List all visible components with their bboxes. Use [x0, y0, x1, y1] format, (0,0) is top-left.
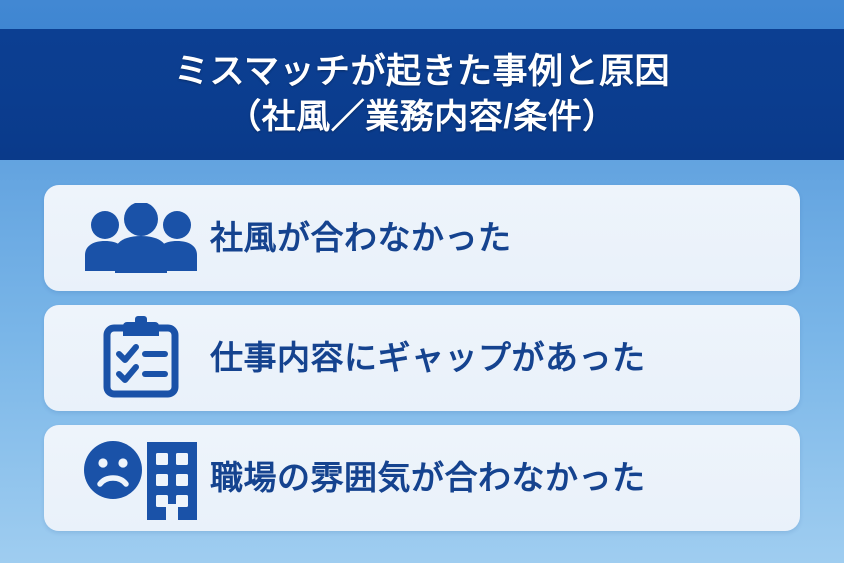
list-item-label: 職場の雰囲気が合わなかった [210, 459, 646, 497]
page-title-line-2: （社風／業務内容/条件） [227, 95, 616, 140]
card-list: 社風が合わなかった [44, 185, 800, 531]
list-item[interactable]: 社風が合わなかった [44, 185, 800, 291]
header-band: ミスマッチが起きた事例と原因 （社風／業務内容/条件） [0, 29, 844, 160]
sad-face-building-icon [78, 436, 204, 520]
top-accent-strip [0, 0, 844, 29]
poster-root: ミスマッチが起きた事例と原因 （社風／業務内容/条件） [0, 0, 844, 563]
list-item[interactable]: 仕事内容にギャップがあった [44, 305, 800, 411]
clipboard-checklist-icon [78, 316, 204, 400]
office-building-part [147, 442, 197, 520]
list-item-label: 仕事内容にギャップがあった [210, 339, 646, 377]
page-title-line-1: ミスマッチが起きた事例と原因 [174, 49, 670, 95]
people-group-icon [78, 203, 204, 273]
list-item-label: 社風が合わなかった [210, 219, 512, 257]
list-item[interactable]: 職場の雰囲気が合わなかった [44, 425, 800, 531]
sad-face-part [84, 441, 142, 499]
